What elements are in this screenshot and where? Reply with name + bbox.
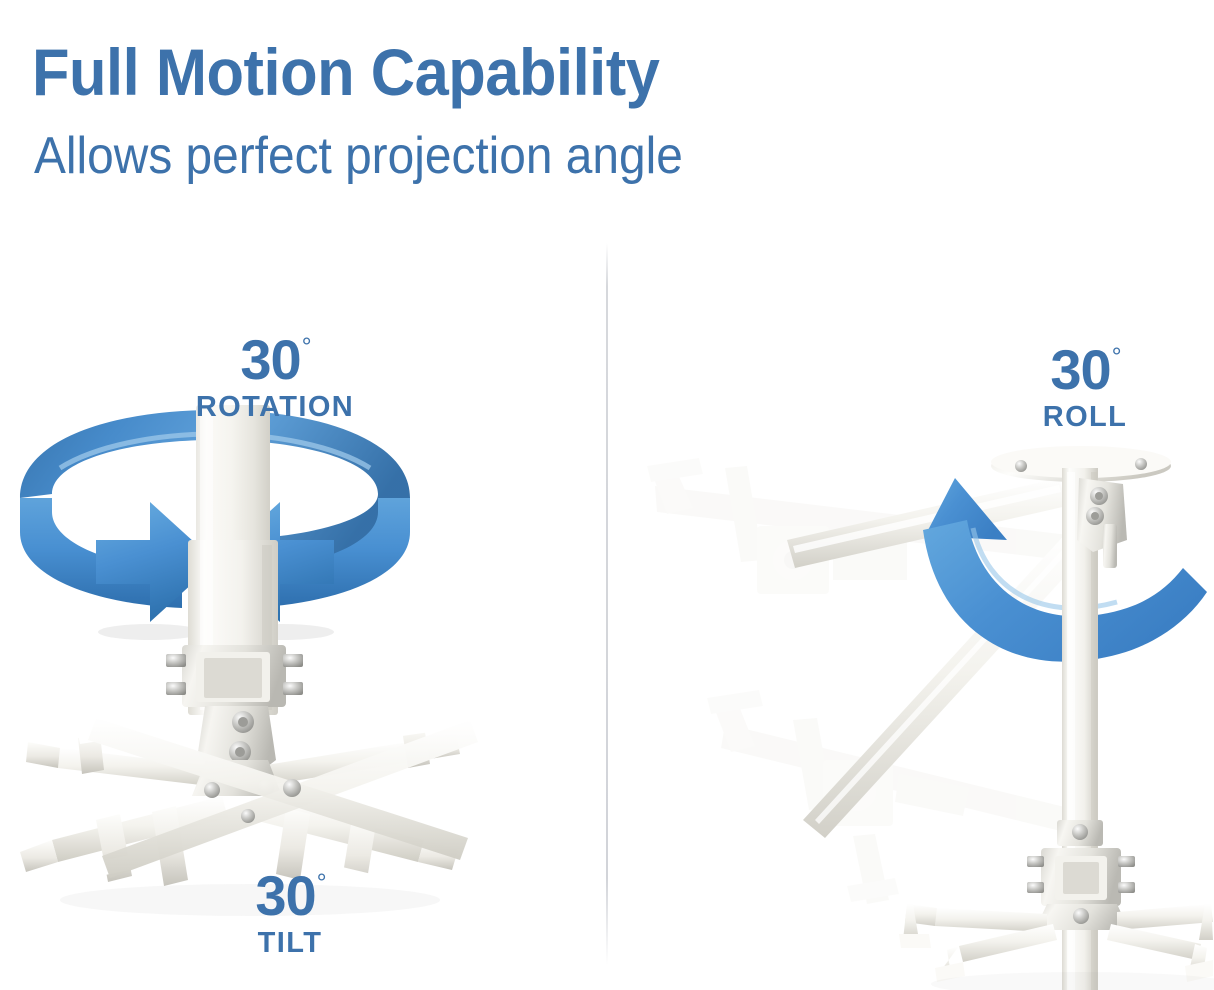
- label-rotation: 30° ROTATION: [155, 332, 395, 424]
- label-tilt: 30° TILT: [190, 868, 390, 960]
- rotation-axis-name: ROTATION: [155, 390, 395, 424]
- roll-axis-name: ROLL: [985, 400, 1185, 434]
- roll-angle-value: 30°: [985, 342, 1185, 398]
- degree-symbol: °: [302, 333, 311, 361]
- tilt-angle-value: 30°: [190, 868, 390, 924]
- rotation-angle-value: 30°: [155, 332, 395, 388]
- bottom-mount-assembly: [899, 820, 1213, 982]
- label-roll: 30° ROLL: [985, 342, 1185, 434]
- degree-symbol: °: [1112, 343, 1121, 371]
- infographic-canvas: Full Motion Capability Allows perfect pr…: [0, 0, 1214, 990]
- tilt-axis-name: TILT: [190, 926, 390, 960]
- page-subtitle: Allows perfect projection angle: [34, 125, 1064, 187]
- page-title: Full Motion Capability: [32, 36, 1055, 108]
- degree-symbol: °: [317, 869, 326, 897]
